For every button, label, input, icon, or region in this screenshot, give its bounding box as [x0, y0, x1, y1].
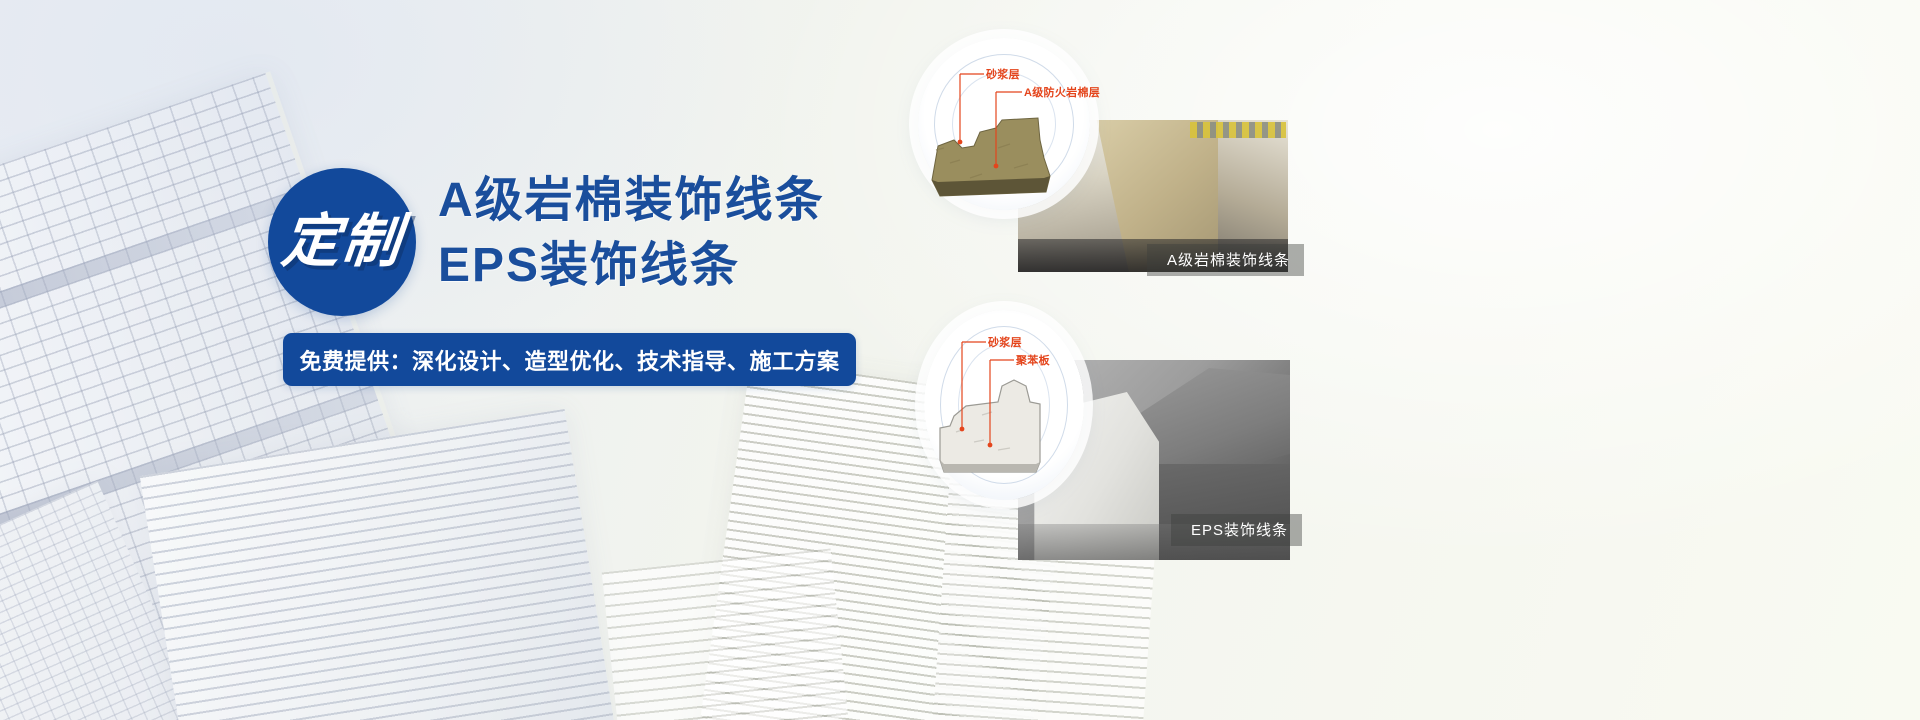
- eps-callout-label-2: 聚苯板: [1016, 352, 1050, 368]
- rockwool-cross-section-drawing: [910, 28, 1310, 288]
- headline-line-2: EPS装饰线条: [438, 237, 958, 296]
- custom-badge: 定制: [268, 168, 416, 316]
- eps-callout-label-1: 砂浆层: [988, 334, 1022, 350]
- promo-banner: 定制 A级岩棉装饰线条 EPS装饰线条 免费提供：深化设计、造型优化、技术指导、…: [0, 0, 1920, 720]
- custom-badge-label: 定制: [279, 213, 405, 271]
- rockwool-callout-label-2: A级防火岩棉层: [1024, 84, 1100, 100]
- service-promise-bar: 免费提供：深化设计、造型优化、技术指导、施工方案: [283, 333, 856, 386]
- service-promise-text: 免费提供：深化设计、造型优化、技术指导、施工方案: [299, 344, 839, 376]
- rockwool-profile-shape: [932, 118, 1050, 196]
- rockwool-callout-label-1: 砂浆层: [986, 66, 1020, 82]
- headline-line-1: A级岩棉装饰线条: [438, 172, 958, 231]
- eps-cross-section-drawing: [910, 300, 1310, 560]
- building-photo-foreground: [602, 548, 849, 720]
- product-card-rockwool: A级岩棉装饰线条 砂浆层 A级防火岩棉层: [910, 28, 1310, 288]
- headline-block: A级岩棉装饰线条 EPS装饰线条: [438, 172, 958, 295]
- product-card-eps: EPS装饰线条 砂浆层 聚苯板: [910, 300, 1310, 560]
